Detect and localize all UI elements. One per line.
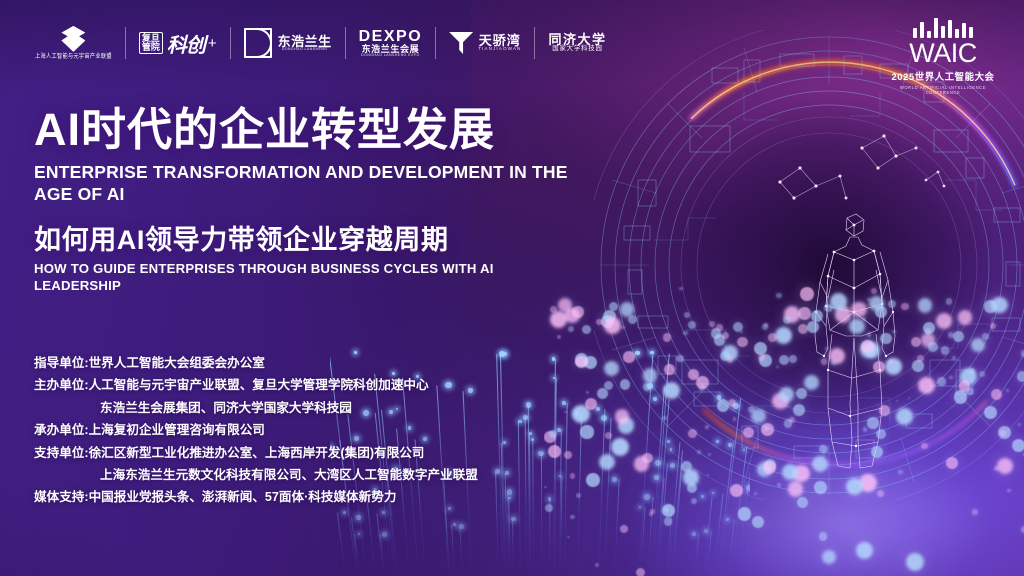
diamond-mark-icon <box>61 26 85 52</box>
waic-wordmark: WAIC <box>884 41 1002 67</box>
fudan-box-icon: 复旦 管院 <box>139 32 163 55</box>
credit-line: 东浩兰生会展集团、同济大学国家大学科技园 <box>34 397 654 419</box>
kechuang-script: 科创 <box>167 29 205 58</box>
title-en: ENTERPRISE TRANSFORMATION AND DEVELOPMEN… <box>34 161 594 205</box>
donghao-cn: 东浩兰生 <box>278 35 332 48</box>
credit-line: 上海东浩兰生元数文化科技有限公司、大湾区人工智能数字产业联盟 <box>34 464 654 486</box>
alliance-name: 上海人工智能与元宇宙产业联盟 <box>35 55 112 61</box>
waic-bars-icon <box>884 16 1002 38</box>
waic-logo: WAIC 2025世界人工智能大会 WORLD ARTIFICIAL INTEL… <box>884 16 1002 95</box>
credit-line: 承办单位:上海复初企业管理咨询有限公司 <box>34 419 654 441</box>
credit-line: 指导单位:世界人工智能大会组委会办公室 <box>34 352 654 374</box>
donghao-en: DONGHAO LANSHENG <box>282 48 328 52</box>
tianjiaowan-en: TIANJIAOWAN <box>478 47 521 52</box>
d-mark-icon <box>244 28 272 58</box>
headline-block: AI时代的企业转型发展 ENTERPRISE TRANSFORMATION AN… <box>34 106 674 295</box>
logo-dexpo: DEXPO 东浩兰生会展 DONGHAO LANSHENG EXPO <box>346 16 436 70</box>
credit-line: 主办单位:人工智能与元宇宙产业联盟、复旦大学管理学院科创加速中心 <box>34 374 654 396</box>
credit-line: 媒体支持:中国报业党报头条、澎湃新闻、57面体·科技媒体新势力 <box>34 486 654 508</box>
subtitle-en: HOW TO GUIDE ENTERPRISES THROUGH BUSINES… <box>34 261 504 295</box>
logo-tongji-university-science-park: 同济大学 国家大学科技园 <box>535 16 619 70</box>
tongji-sub: 国家大学科技园 <box>552 46 602 52</box>
logo-shanghai-ai-metaverse-alliance: 上海人工智能与元宇宙产业联盟 <box>22 16 125 70</box>
dexpo-wordmark: DEXPO <box>359 29 423 45</box>
credits-block: 指导单位:世界人工智能大会组委会办公室 主办单位:人工智能与元宇宙产业联盟、复旦… <box>34 352 654 509</box>
waic-en-name: WORLD ARTIFICIAL INTELLIGENCE CONFERENCE <box>884 85 1002 95</box>
logo-fudan-school-of-management: 复旦 管院 科创 + <box>126 16 230 70</box>
dexpo-en-sub: DONGHAO LANSHENG EXPO <box>361 54 420 58</box>
fudan-line-2: 管院 <box>142 43 160 52</box>
poster-canvas: 上海人工智能与元宇宙产业联盟 复旦 管院 科创 + 东浩兰生 DONGHAO L… <box>0 0 1024 576</box>
plus-glyph-icon: + <box>208 35 217 52</box>
waic-cn-name: 2025世界人工智能大会 <box>884 69 1002 83</box>
triangle-mark-icon <box>449 32 473 54</box>
title-cn: AI时代的企业转型发展 <box>34 106 674 154</box>
subtitle-cn: 如何用AI领导力带领企业穿越周期 <box>34 225 674 255</box>
credit-line: 支持单位:徐汇区新型工业化推进办公室、上海西岸开发(集团)有限公司 <box>34 442 654 464</box>
logo-donghao-lansheng: 东浩兰生 DONGHAO LANSHENG <box>231 16 345 70</box>
logo-tianjiaowan: 天骄湾 TIANJIAOWAN <box>436 16 534 70</box>
partner-logo-row: 上海人工智能与元宇宙产业联盟 复旦 管院 科创 + 东浩兰生 DONGHAO L… <box>22 16 619 70</box>
